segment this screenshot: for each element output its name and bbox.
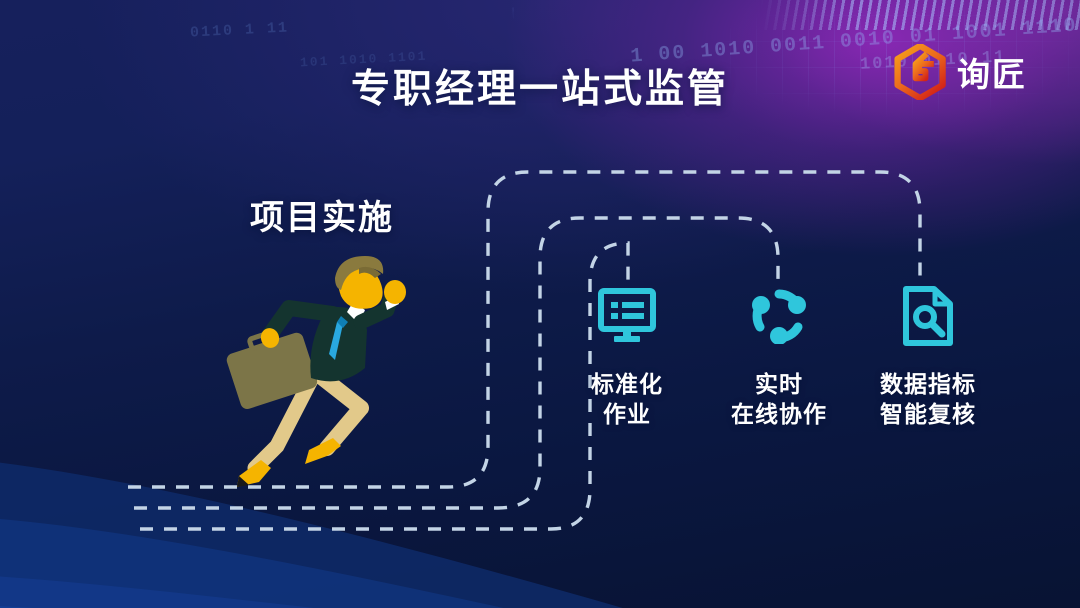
running-businessman-illustration: [215, 250, 445, 500]
feature-item-data-review[interactable]: 数据指标 智能复核: [843, 285, 1013, 430]
feature-item-realtime-collaboration[interactable]: 实时 在线协作: [694, 285, 864, 430]
feature-label: 实时 在线协作: [694, 369, 864, 430]
feature-label: 标准化 作业: [542, 369, 712, 430]
feature-item-standardized-work[interactable]: 标准化 作业: [542, 285, 712, 430]
monitor-list-icon: [542, 285, 712, 347]
feature-label: 数据指标 智能复核: [843, 369, 1013, 430]
document-search-icon: [843, 285, 1013, 347]
slide-canvas: 1 00 1010 0011 0010 01 1001 1110 0110 1 …: [0, 0, 1080, 608]
share-nodes-icon: [694, 285, 864, 347]
